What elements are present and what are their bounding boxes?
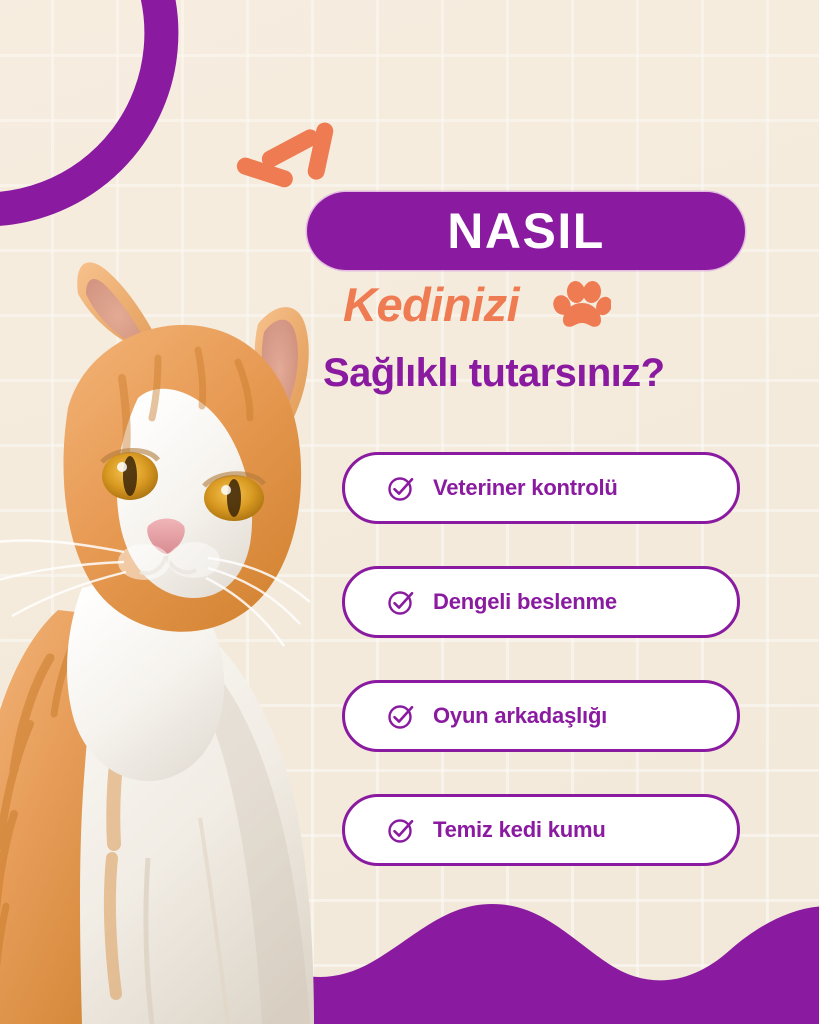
list-item-label: Veteriner kontrolü [433, 475, 618, 501]
page-headline: Sağlıklı tutarsınız? [323, 352, 793, 394]
check-circle-icon [387, 474, 415, 502]
list-item-label: Oyun arkadaşlığı [433, 703, 607, 729]
subtitle-row: Kedinizi [343, 276, 773, 332]
subtitle-italic-label: Kedinizi [343, 281, 519, 328]
list-item[interactable]: Temiz kedi kumu [342, 794, 740, 866]
title-label: NASIL [447, 206, 605, 256]
title-pill: NASIL [307, 192, 745, 270]
cat-head [0, 325, 310, 646]
check-circle-icon [387, 702, 415, 730]
list-item[interactable]: Veteriner kontrolü [342, 452, 740, 524]
check-circle-icon [387, 588, 415, 616]
cat-photo [0, 258, 334, 1024]
cat-illustration [0, 258, 334, 1024]
list-item-label: Temiz kedi kumu [433, 817, 606, 843]
list-item[interactable]: Oyun arkadaşlığı [342, 680, 740, 752]
purple-ring-arc [0, 0, 161, 209]
list-item[interactable]: Dengeli beslenme [342, 566, 740, 638]
list-item-label: Dengeli beslenme [433, 589, 617, 615]
content-column: NASIL Kedinizi Sağlıklı tutarsınız? Vete… [307, 0, 767, 1024]
check-circle-icon [387, 816, 415, 844]
poster-canvas: NASIL Kedinizi Sağlıklı tutarsınız? Vete… [0, 0, 819, 1024]
feature-list: Veteriner kontrolü Dengeli beslenme Oyun… [342, 452, 746, 908]
paw-print-icon [553, 279, 611, 329]
